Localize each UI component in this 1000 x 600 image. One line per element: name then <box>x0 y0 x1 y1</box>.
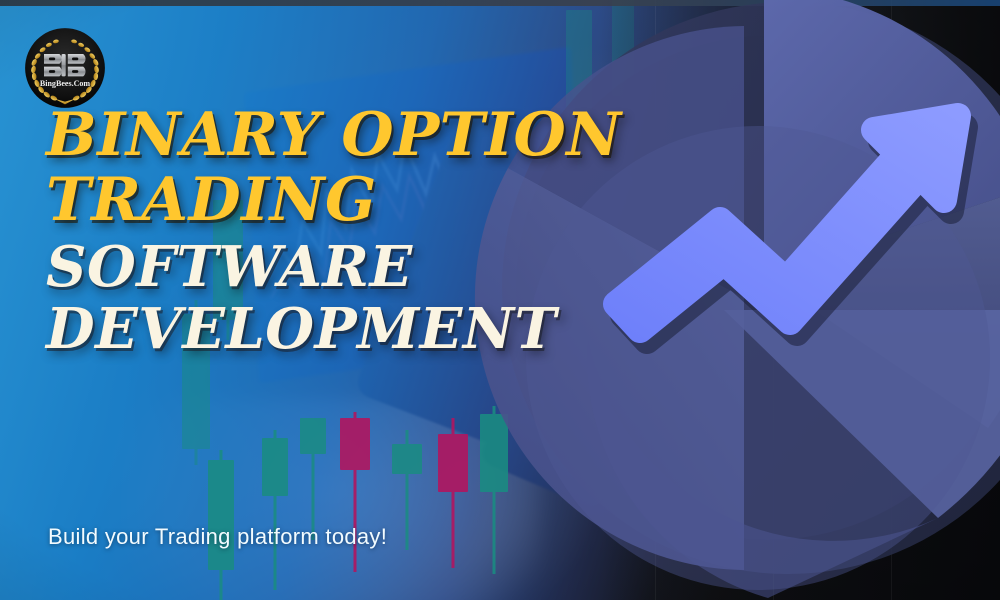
headline-line-1: BINARY OPTION <box>46 106 646 165</box>
bingbees-logo[interactable]: BingBees.Com <box>23 26 107 110</box>
promo-banner: BingBees.Com BINARY OPTION TRADING SOFTW… <box>0 0 1000 600</box>
headline-block: BINARY OPTION TRADING SOFTWARE DEVELOPME… <box>46 106 646 357</box>
logo-site-text: BingBees.Com <box>40 79 91 88</box>
top-strip <box>0 0 1000 6</box>
headline-line-3: SOFTWARE <box>46 240 646 295</box>
headline-line-4: DEVELOPMENT <box>46 302 646 357</box>
tagline: Build your Trading platform today! <box>48 524 387 550</box>
headline-line-2: TRADING <box>46 171 646 230</box>
grid-lines <box>655 0 1000 600</box>
